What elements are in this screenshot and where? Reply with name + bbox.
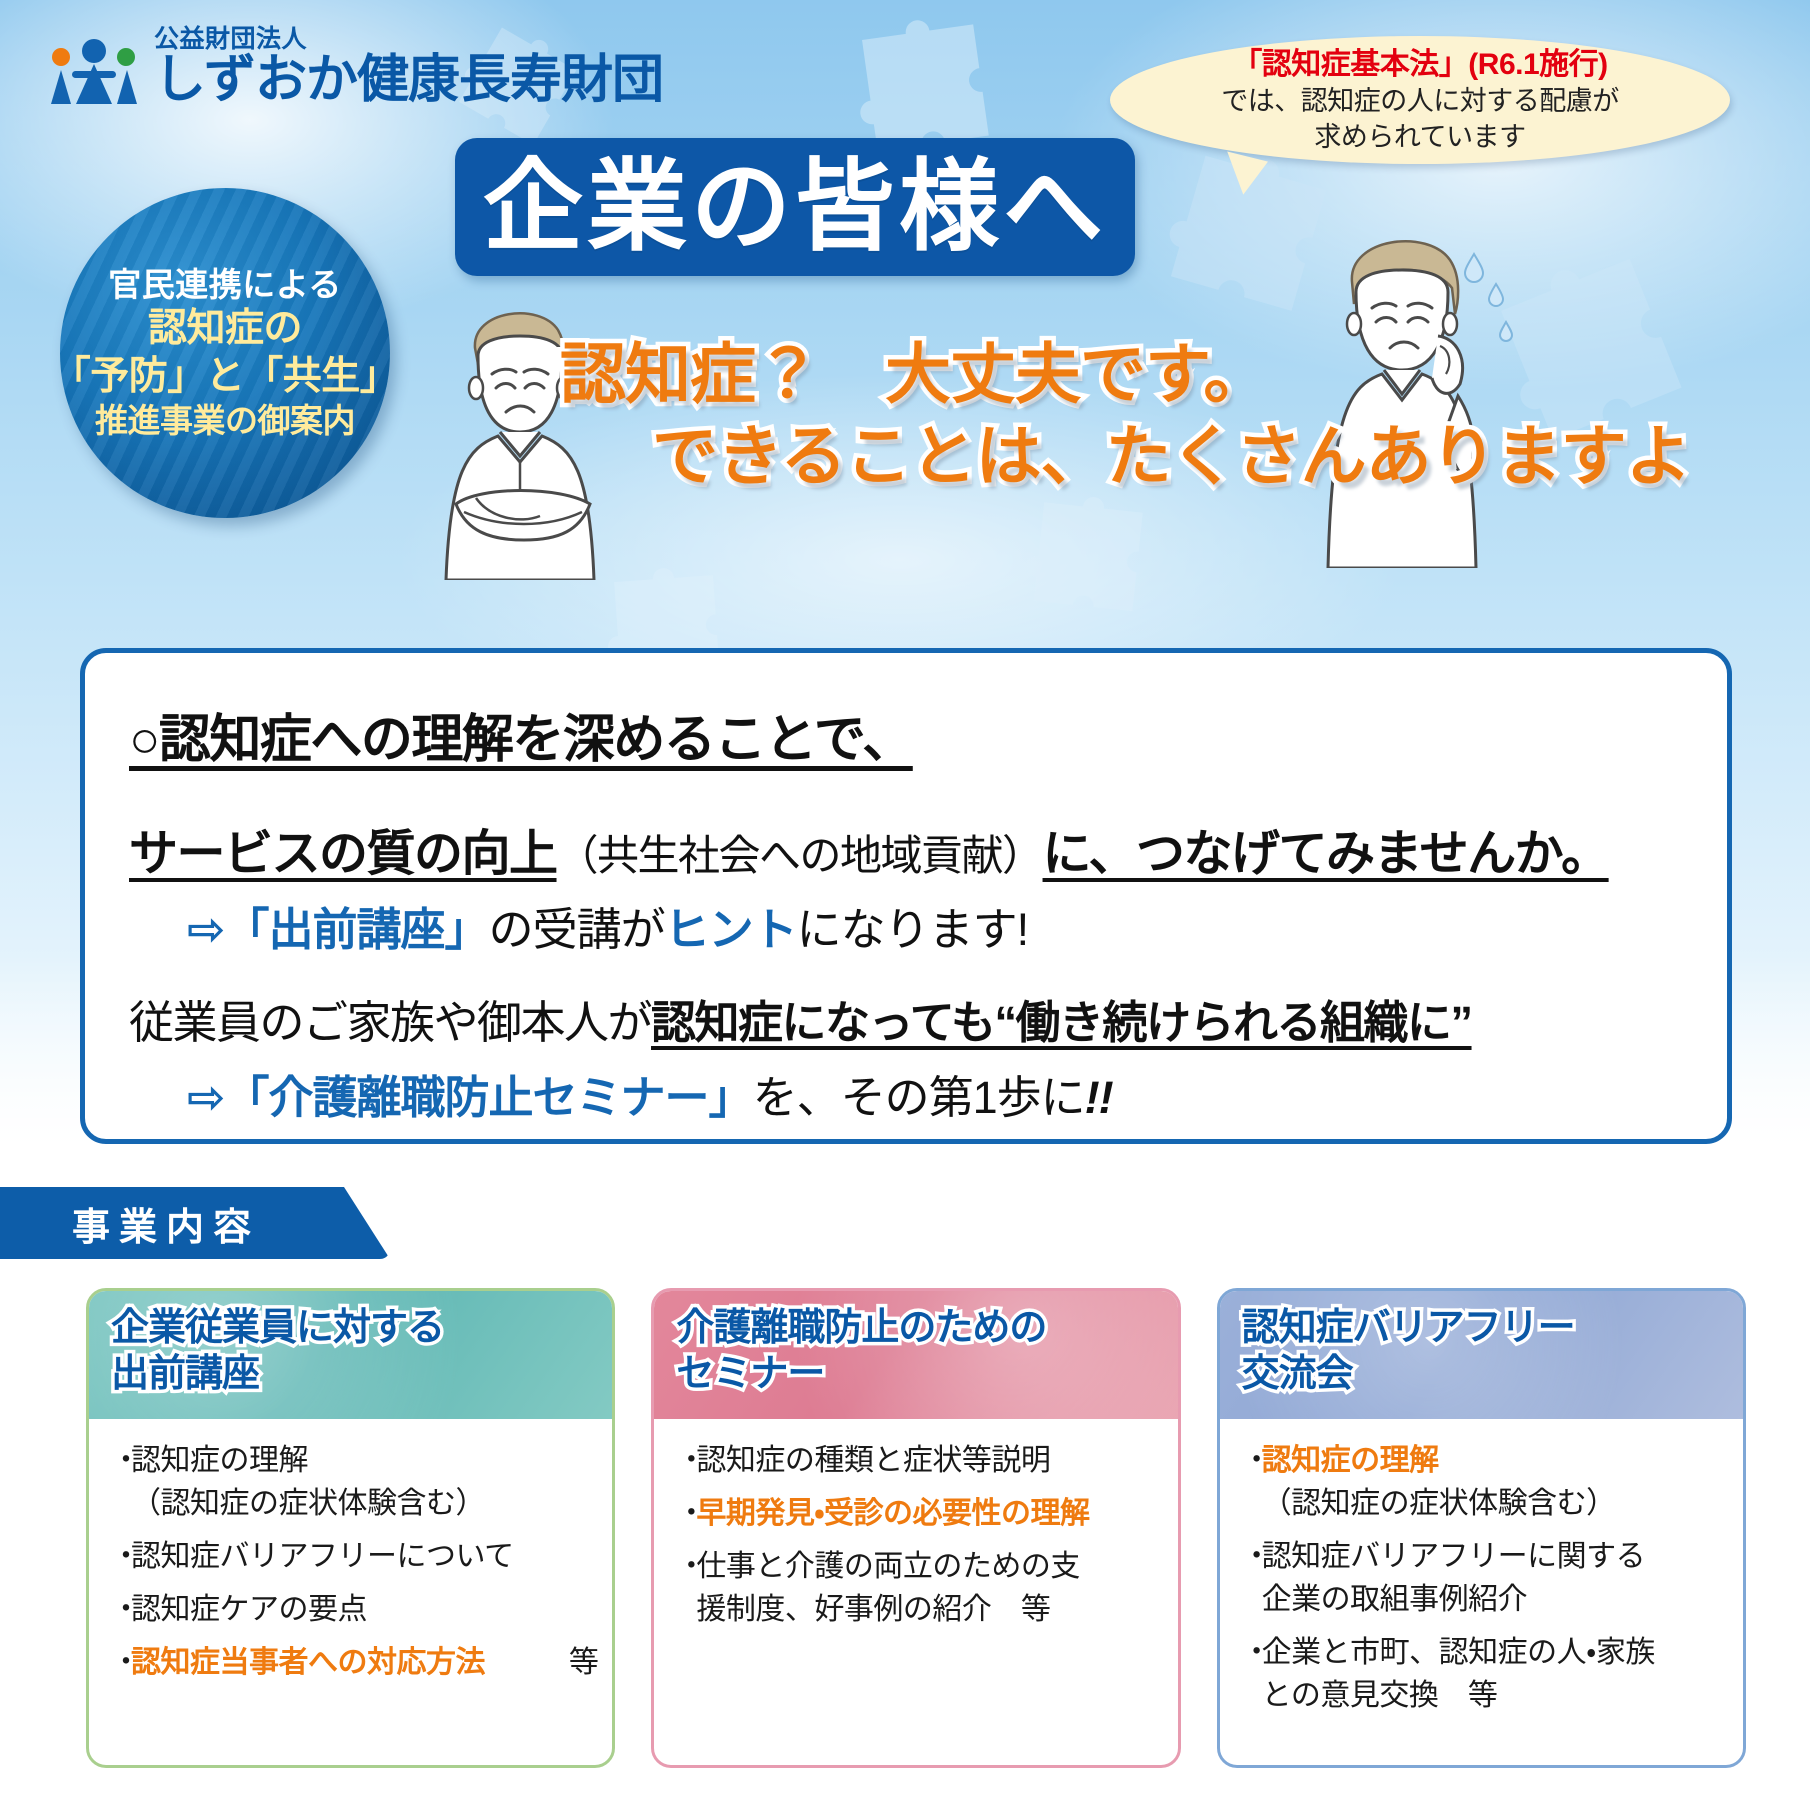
bullet-dot-icon: ・	[676, 1441, 696, 1480]
slogan-block: 認知症？ 大丈夫です。 できることは、たくさんありますよ	[560, 334, 1720, 498]
bubble-line-3: 求められています	[1314, 120, 1525, 155]
list-item-continuation: 援制度、好事例の紹介 等	[696, 1590, 1163, 1629]
circle-line-4: 推進事業の御案内	[95, 401, 355, 441]
panel-sub-d: になります!	[797, 904, 1029, 955]
bullet-dot-icon: ・	[676, 1494, 696, 1533]
list-item-text: 認知症の理解	[1262, 1441, 1729, 1480]
list-item: ・ 認知症の種類と症状等説明	[676, 1441, 1163, 1480]
card-header: 介護離職防止のための セミナー	[654, 1291, 1177, 1419]
list-item: ・ 認知症バリアフリーに関する	[1242, 1537, 1729, 1576]
panel-main-a: サービスの質の向上	[129, 827, 557, 881]
bullet-dot-icon: ・	[1242, 1537, 1262, 1576]
bullet-dot-icon: ・	[1242, 1441, 1262, 1480]
panel-sub-a: 「出前講座」	[225, 904, 489, 955]
list-item-text: 認知症ケアの要点	[131, 1590, 598, 1629]
program-badge-circle: 官民連携による 認知症の 「予防」と「共生」 推進事業の御案内	[60, 188, 390, 518]
card-body: ・ 認知症の種類と症状等説明 ・ 早期発見・受診の必要性の理解 ・ 仕事と介護の…	[654, 1419, 1177, 1765]
service-card-barrier-free-koryukai: 認知症バリアフリー 交流会 ・ 認知症の理解 （認知症の症状体験含む） ・ 認知…	[1217, 1288, 1746, 1768]
puzzle-piece-icon	[1013, 483, 1178, 648]
bullet-dot-icon: ・	[111, 1643, 131, 1682]
card-title-line-2: 出前講座	[111, 1351, 594, 1397]
panel-heading: ○認知症への理解を深めることで、	[129, 697, 1693, 772]
logo-subtitle: 公益財団法人	[154, 26, 663, 52]
bubble-line-1: 「認知症基本法」(R6.1施行)	[1232, 45, 1607, 84]
service-card-shutsumae-kouza: 企業従業員に対する 出前講座 ・ 認知症の理解 （認知症の症状体験含む） ・ 認…	[86, 1288, 615, 1768]
card-title-line-1: 介護離職防止のための	[676, 1305, 1159, 1351]
list-item-text: 認知症の理解	[131, 1441, 598, 1480]
card-body: ・ 認知症の理解 （認知症の症状体験含む） ・ 認知症バリアフリーについて ・ …	[89, 1419, 612, 1765]
panel-sub-c: ヒント	[665, 904, 797, 955]
card-title-line-2: セミナー	[676, 1351, 1159, 1397]
list-item-continuation: （認知症の症状体験含む）	[1262, 1484, 1729, 1523]
panel-sub2-b: を、その第1歩に	[753, 1072, 1085, 1123]
list-item-text: 認知症バリアフリーに関する	[1262, 1537, 1729, 1576]
list-item-text: 認知症当事者への対応方法	[131, 1643, 539, 1682]
slogan-line-2: できることは、たくさんありますよ	[652, 416, 1720, 498]
panel-sub2-c: !!	[1085, 1072, 1113, 1123]
list-item-text: 早期発見・受診の必要性の理解	[696, 1494, 1163, 1533]
list-item-continuation: 企業の取組事例紹介	[1262, 1580, 1729, 1619]
list-item: ・ 認知症バリアフリーについて	[111, 1537, 598, 1576]
bullet-dot-icon: ・	[1242, 1633, 1262, 1672]
circle-line-3: 「予防」と「共生」	[52, 353, 399, 401]
logo-title: しずおか健康長寿財団	[154, 54, 663, 106]
page-title: 企業の皆様へ	[483, 157, 1107, 257]
bullet-dot-icon: ・	[111, 1537, 131, 1576]
bullet-dot-icon: ・	[111, 1441, 131, 1480]
card-title-line-1: 認知症バリアフリー	[1242, 1305, 1725, 1351]
list-item: ・ 早期発見・受診の必要性の理解	[676, 1494, 1163, 1533]
panel-sub2-a: 「介護離職防止セミナー」	[225, 1072, 753, 1123]
arrow-right-icon: ⇨	[187, 1071, 225, 1123]
panel-main-line: サービスの質の向上（共生社会への地域貢献）に、つなげてみませんか。	[129, 814, 1693, 885]
list-item-continuation: との意見交換 等	[1262, 1676, 1729, 1715]
list-item-text: 企業と市町、認知症の人・家族	[1262, 1633, 1729, 1672]
poster-root: 公益財団法人 しずおか健康長寿財団 「認知症基本法」(R6.1施行) では、認知…	[0, 0, 1810, 1796]
service-card-kaigo-riskoku-seminar: 介護離職防止のための セミナー ・ 認知症の種類と症状等説明 ・ 早期発見・受診…	[651, 1288, 1180, 1768]
list-item: ・ 認知症ケアの要点	[111, 1590, 598, 1629]
circle-line-1: 官民連携による	[108, 265, 342, 305]
list-item-tail: 等	[539, 1643, 598, 1682]
panel-line2-a: 従業員のご家族や御本人が	[129, 997, 651, 1048]
card-header: 企業従業員に対する 出前講座	[89, 1291, 612, 1419]
panel-line2-b: 認知症になっても“働き続けられる組織に”	[651, 997, 1472, 1048]
bullet-dot-icon: ・	[111, 1590, 131, 1629]
panel-main-b: （共生社会への地域貢献）	[557, 832, 1043, 879]
panel-main-c: に、つなげてみませんか。	[1043, 827, 1609, 881]
card-title-line-2: 交流会	[1242, 1351, 1725, 1397]
service-cards: 企業従業員に対する 出前講座 ・ 認知症の理解 （認知症の症状体験含む） ・ 認…	[86, 1288, 1746, 1768]
list-item-text: 仕事と介護の両立のための支	[696, 1547, 1163, 1586]
circle-line-2: 認知症の	[148, 305, 302, 353]
card-title-line-1: 企業従業員に対する	[111, 1305, 594, 1351]
bullet-dot-icon: ・	[676, 1547, 696, 1586]
card-body: ・ 認知症の理解 （認知症の症状体験含む） ・ 認知症バリアフリーに関する 企業…	[1220, 1419, 1743, 1765]
panel-sub-b: の受講が	[489, 904, 665, 955]
message-panel: ○認知症への理解を深めることで、 サービスの質の向上（共生社会への地域貢献）に、…	[80, 648, 1732, 1144]
main-title-banner: 企業の皆様へ	[455, 138, 1135, 276]
section-banner-services: 事業内容	[0, 1187, 390, 1259]
panel-sub-line-1: ⇨「出前講座」の受講がヒントになります!	[187, 893, 1693, 958]
list-item: ・ 認知症の理解	[1242, 1441, 1729, 1480]
card-header: 認知症バリアフリー 交流会	[1220, 1291, 1743, 1419]
panel-sub-line-2: ⇨「介護離職防止セミナー」を、その第1歩に!!	[187, 1061, 1693, 1126]
organization-logo: 公益財団法人 しずおか健康長寿財団	[46, 26, 663, 106]
list-item-text: 認知症の種類と症状等説明	[696, 1441, 1163, 1480]
list-item: ・ 仕事と介護の両立のための支	[676, 1547, 1163, 1586]
list-item-continuation: （認知症の症状体験含む）	[131, 1484, 598, 1523]
list-item-text: 認知症バリアフリーについて	[131, 1537, 598, 1576]
bubble-line-2: では、認知症の人に対する配慮が	[1221, 84, 1619, 119]
arrow-right-icon: ⇨	[187, 903, 225, 955]
list-item: ・ 企業と市町、認知症の人・家族	[1242, 1633, 1729, 1672]
slogan-line-1: 認知症？ 大丈夫です。	[560, 334, 1720, 416]
section-banner-label: 事業内容	[72, 1196, 260, 1251]
law-callout-bubble: 「認知症基本法」(R6.1施行) では、認知症の人に対する配慮が 求められていま…	[1110, 36, 1730, 164]
panel-second-line: 従業員のご家族や御本人が認知症になっても“働き続けられる組織に”	[129, 986, 1693, 1051]
list-item: ・ 認知症の理解	[111, 1441, 598, 1480]
list-item: ・ 認知症当事者への対応方法 等	[111, 1643, 598, 1682]
three-people-icon	[46, 38, 142, 106]
